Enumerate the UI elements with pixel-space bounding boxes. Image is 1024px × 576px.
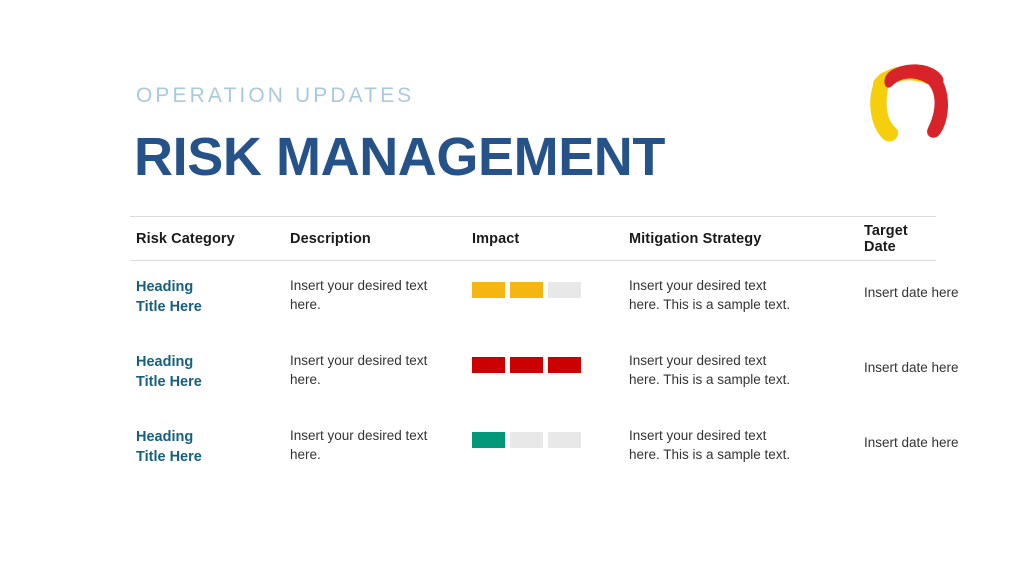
target-date-text: Insert date here [864,434,926,453]
impact-meter [472,432,583,448]
column-header-mitigation-strategy: Mitigation Strategy [593,231,808,247]
impact-cell [448,352,593,373]
column-header-risk-category: Risk Category [130,231,288,247]
risk-category-heading: Heading Title Here [136,277,216,317]
description-text: Insert your desired text here. [290,427,438,464]
impact-chip [472,432,505,448]
impact-chip [510,432,543,448]
target-date-text: Insert date here [864,284,926,303]
target-date-text: Insert date here [864,359,926,378]
table-row: Heading Title Here Insert your desired t… [130,411,936,486]
impact-meter [472,357,583,373]
slide-eyebrow: OPERATION UPDATES [136,85,414,106]
risk-category-cell: Heading Title Here [130,427,288,467]
slide-canvas: OPERATION UPDATES RISK MANAGEMENT Risk C… [0,0,1024,576]
column-header-impact: Impact [448,231,593,247]
impact-cell [448,427,593,448]
mitigation-cell: Insert your desired text here. This is a… [593,277,808,314]
description-text: Insert your desired text here. [290,352,438,389]
risk-table: Risk Category Description Impact Mitigat… [130,216,936,486]
impact-chip [548,282,581,298]
mitigation-text: Insert your desired text here. This is a… [629,352,798,389]
description-text: Insert your desired text here. [290,277,438,314]
mitigation-text: Insert your desired text here. This is a… [629,427,798,464]
risk-category-heading: Heading Title Here [136,352,216,392]
target-date-cell: Insert date here [808,427,936,453]
brand-logo-icon [862,58,954,152]
impact-chip [548,357,581,373]
page-title: RISK MANAGEMENT [134,128,665,187]
column-header-description: Description [288,231,448,247]
impact-chip [472,357,505,373]
description-cell: Insert your desired text here. [288,427,448,464]
table-row: Heading Title Here Insert your desired t… [130,336,936,411]
risk-category-cell: Heading Title Here [130,277,288,317]
impact-meter [472,282,583,298]
risk-category-cell: Heading Title Here [130,352,288,392]
impact-chip [510,282,543,298]
mitigation-text: Insert your desired text here. This is a… [629,277,798,314]
description-cell: Insert your desired text here. [288,277,448,314]
description-cell: Insert your desired text here. [288,352,448,389]
table-row: Heading Title Here Insert your desired t… [130,261,936,336]
impact-chip [548,432,581,448]
target-date-cell: Insert date here [808,277,936,303]
risk-category-heading: Heading Title Here [136,427,216,467]
target-date-cell: Insert date here [808,352,936,378]
mitigation-cell: Insert your desired text here. This is a… [593,352,808,389]
table-header-row: Risk Category Description Impact Mitigat… [130,217,936,260]
impact-chip [472,282,505,298]
column-header-target-date: Target Date [808,223,936,255]
impact-chip [510,357,543,373]
impact-cell [448,277,593,298]
mitigation-cell: Insert your desired text here. This is a… [593,427,808,464]
